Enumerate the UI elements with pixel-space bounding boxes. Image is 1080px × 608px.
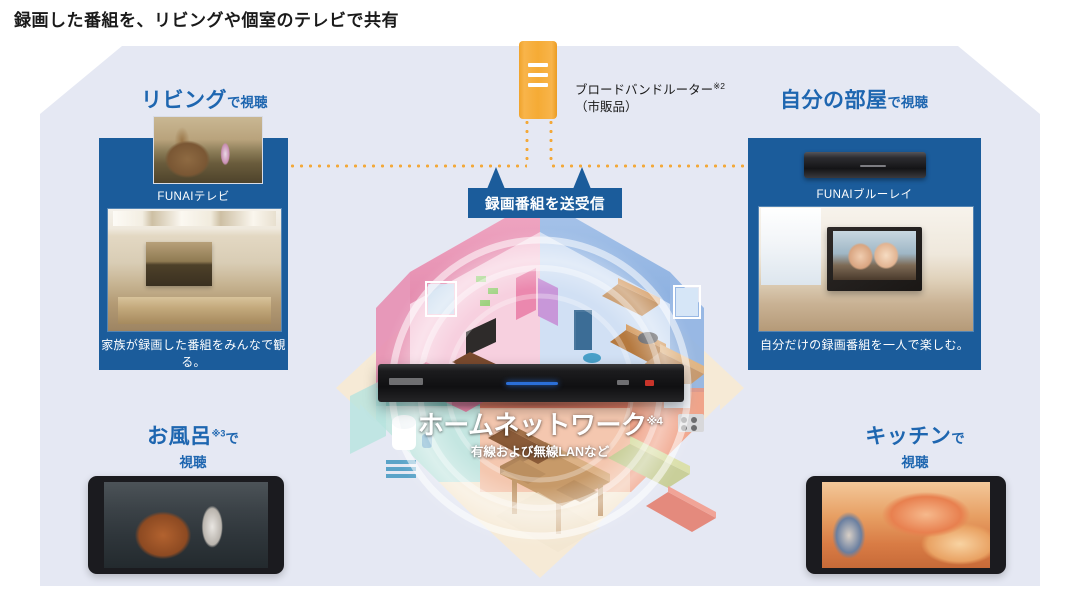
home-network-subtitle: 有線および無線LANなど bbox=[415, 441, 665, 460]
living-wall-tv bbox=[146, 242, 212, 286]
living-device-label: FUNAIテレビ bbox=[99, 188, 288, 204]
recorder-indicator-grey bbox=[617, 380, 629, 385]
router-drop-line-right bbox=[549, 118, 553, 166]
router-drop-line-left bbox=[525, 118, 529, 166]
funai-tv-screen-image bbox=[154, 117, 262, 183]
zone-title-bath-suffix: で bbox=[225, 431, 239, 446]
router-slot-2 bbox=[528, 73, 548, 77]
living-window bbox=[113, 211, 276, 226]
router-slot-3 bbox=[528, 83, 548, 87]
funai-bluray-recorder bbox=[378, 364, 684, 402]
home-network-title: ホームネットワーク※4 bbox=[418, 410, 663, 440]
zone-title-bath-line2: 視聴 bbox=[108, 451, 278, 471]
own-room-caption: 自分だけの録画番組を一人で楽しむ。 bbox=[748, 336, 981, 353]
living-room-photo bbox=[107, 208, 282, 332]
router-label: ブロードバンドルーター※2 （市販品） bbox=[575, 78, 725, 116]
zone-title-living-suffix: で視聴 bbox=[227, 95, 268, 110]
home-network-label: ホームネットワーク※4 有線および無線LANなど bbox=[415, 405, 665, 460]
zone-title-kitchen-suffix: で bbox=[951, 431, 965, 446]
router-label-line1: ブロードバンドルーター bbox=[575, 83, 713, 97]
router-slot-1 bbox=[528, 63, 548, 67]
diagram-canvas: 録画した番組を、リビングや個室のテレビで共有 bbox=[0, 0, 1080, 608]
living-caption: 家族が録画した番組をみんなで観る。 bbox=[99, 336, 288, 370]
bath-smartphone bbox=[88, 476, 284, 574]
badge-pointer-right bbox=[573, 167, 591, 189]
zone-title-own-room-main: 自分の部屋 bbox=[780, 89, 888, 112]
living-panel: FUNAIテレビ 家族が録画した番組をみんなで観る。 bbox=[99, 138, 288, 370]
bath-smartphone-video bbox=[104, 482, 268, 568]
zone-title-own-room-suffix: で視聴 bbox=[888, 95, 929, 110]
badge-pointer-left bbox=[487, 167, 505, 189]
living-room-photo-bg bbox=[108, 209, 281, 331]
recorder-brand-logo bbox=[389, 378, 423, 385]
router-label-line2: （市販品） bbox=[575, 100, 638, 114]
recorder-display-bar bbox=[506, 382, 558, 385]
home-network-footnote-mark: ※4 bbox=[646, 415, 662, 427]
bath-footnote-mark: ※3 bbox=[212, 429, 226, 439]
bath-smartphone-screen bbox=[104, 482, 268, 568]
router-footnote-mark: ※2 bbox=[713, 81, 725, 91]
own-room-window bbox=[761, 208, 821, 285]
kitchen-smartphone-video bbox=[822, 482, 990, 568]
zone-title-kitchen-main: キッチン bbox=[865, 425, 951, 448]
living-sideboard bbox=[118, 297, 270, 324]
kitchen-smartphone bbox=[806, 476, 1006, 574]
own-room-tv bbox=[827, 227, 921, 291]
zone-title-living: リビングで視聴 bbox=[141, 84, 268, 114]
recorder-indicator-red bbox=[645, 380, 654, 386]
kitchen-smartphone-screen bbox=[822, 482, 990, 568]
broadband-router-icon bbox=[519, 41, 557, 119]
zone-title-own-room: 自分の部屋で視聴 bbox=[780, 84, 928, 114]
zone-title-kitchen: キッチンで 視聴 bbox=[830, 420, 1000, 471]
zone-title-bath: お風呂※3で 視聴 bbox=[108, 420, 278, 471]
page-title: 録画した番組を、リビングや個室のテレビで共有 bbox=[14, 6, 399, 31]
bluray-front-bar bbox=[860, 165, 886, 167]
zone-title-bath-main: お風呂 bbox=[147, 425, 212, 448]
funai-tv-thumbnail bbox=[153, 116, 263, 184]
zone-title-living-main: リビング bbox=[141, 89, 227, 112]
home-network-title-text: ホームネットワーク bbox=[418, 410, 647, 440]
own-room-panel: FUNAIブルーレイ 自分だけの録画番組を一人で楽しむ。 bbox=[748, 138, 981, 370]
zone-title-kitchen-line2: 視聴 bbox=[830, 451, 1000, 471]
transfer-badge: 録画番組を送受信 bbox=[468, 188, 622, 218]
own-room-photo-bg bbox=[759, 207, 973, 331]
funai-bluray-thumbnail bbox=[804, 152, 926, 178]
own-room-photo bbox=[758, 206, 974, 332]
own-room-device-label: FUNAIブルーレイ bbox=[748, 186, 981, 202]
own-room-tv-screen-image bbox=[833, 231, 916, 279]
